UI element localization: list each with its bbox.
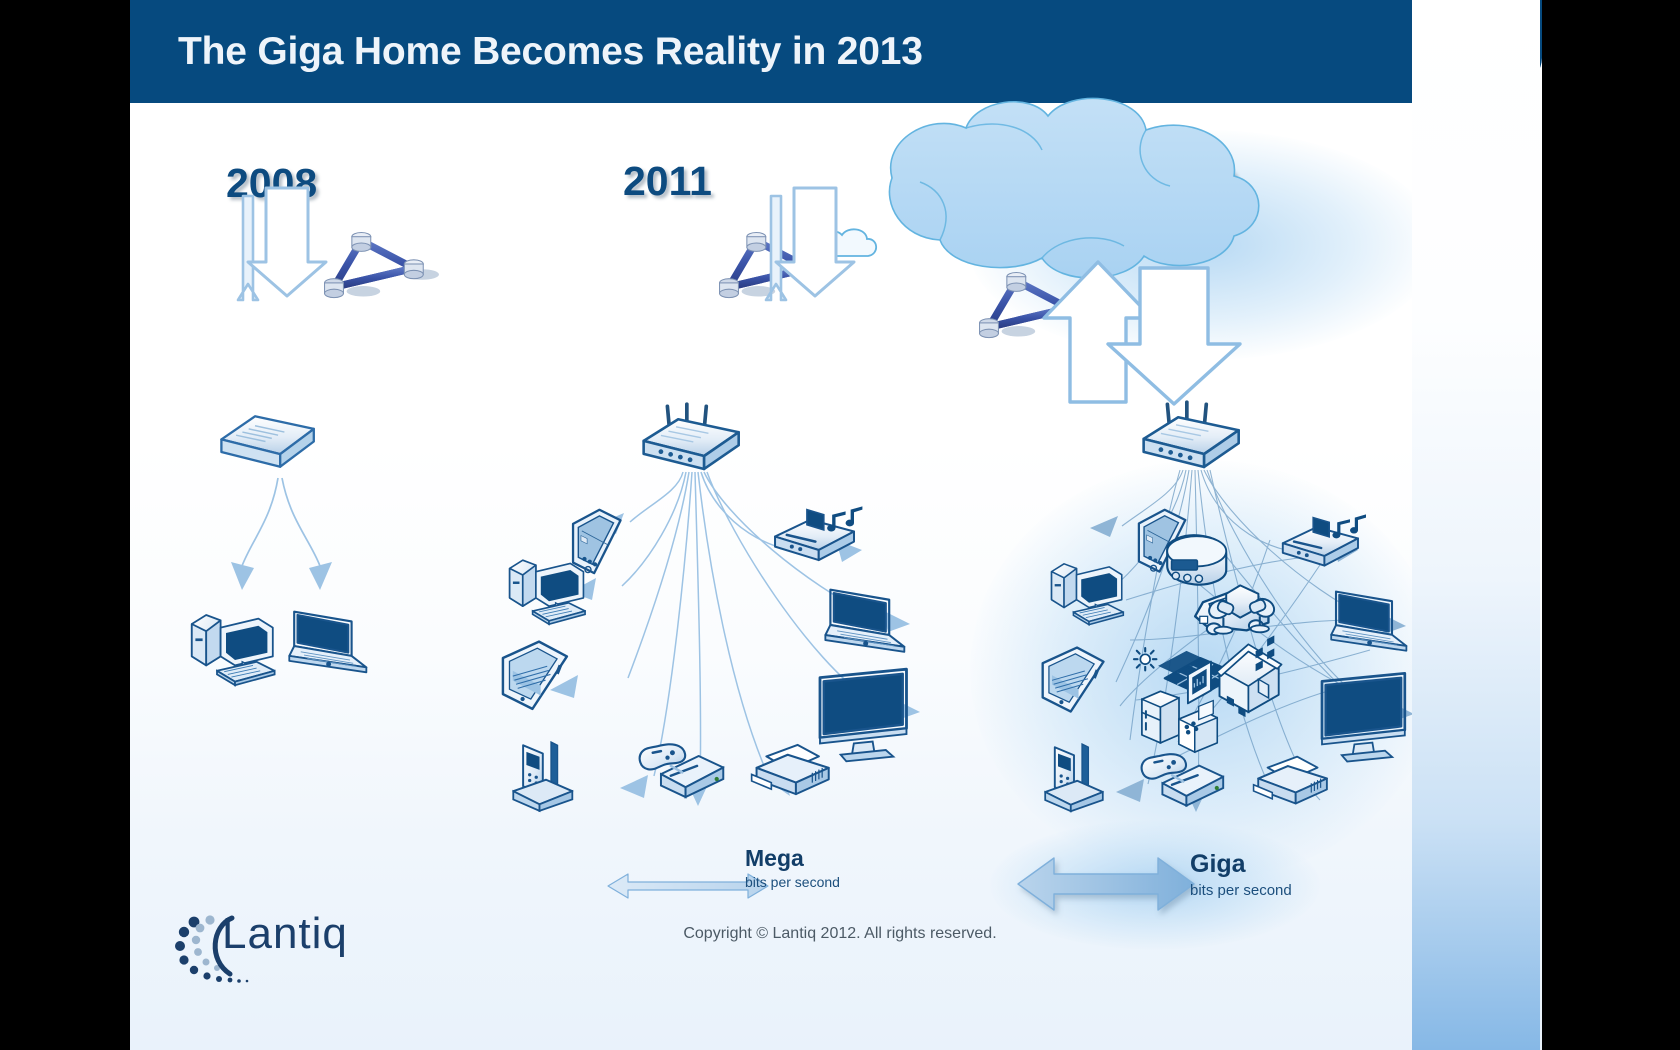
presentation-slide: The Giga Home Becomes Reality in 2013 20… bbox=[130, 0, 1542, 1050]
sun-icon-2013 bbox=[1134, 648, 1156, 670]
bold-up-arrow-2013 bbox=[1044, 262, 1152, 402]
metric-mega: Mega bits per second bbox=[595, 845, 1055, 915]
copyright-notice: Copyright © Lantiq 2012. All rights rese… bbox=[530, 925, 1150, 943]
lantiq-logo: Lantiq bbox=[162, 895, 392, 975]
smartphone-icon-2011 bbox=[573, 510, 621, 573]
television-icon-2011 bbox=[820, 669, 906, 761]
television-icon-2013 bbox=[1322, 673, 1405, 761]
link-arrows-2008 bbox=[242, 478, 320, 566]
metric-giga-title: Giga bbox=[1190, 850, 1246, 879]
laptop-icon-2008 bbox=[289, 612, 366, 673]
bold-down-arrow-2013 bbox=[1108, 268, 1240, 404]
logo-wordmark: Lantiq bbox=[222, 909, 348, 959]
metric-giga-subtitle: bits per second bbox=[1190, 882, 1292, 899]
wifi-router-icon-2013 bbox=[1144, 402, 1239, 467]
desktop-pc-icon-2011 bbox=[510, 560, 585, 624]
tablet-ereader-icon-2013 bbox=[1043, 648, 1104, 712]
dsl-modem-icon-2008 bbox=[221, 416, 313, 466]
wide-down-arrow-2008 bbox=[248, 188, 326, 296]
metric-mega-title: Mega bbox=[745, 845, 804, 872]
cloud-2013 bbox=[889, 98, 1258, 278]
desktop-pc-icon-2008 bbox=[192, 615, 275, 685]
printer-icon-2013 bbox=[1254, 757, 1327, 804]
column-2008 bbox=[192, 188, 439, 685]
link-arrowheads-2008 bbox=[231, 562, 332, 590]
game-console-icon-2011 bbox=[640, 744, 724, 797]
column-2013 bbox=[889, 98, 1414, 812]
metric-mega-subtitle: bits per second bbox=[745, 874, 840, 890]
cordless-phone-icon-2013 bbox=[1045, 744, 1103, 811]
column-2011 bbox=[503, 188, 920, 811]
wifi-router-icon-2011 bbox=[644, 404, 739, 469]
cordless-phone-icon-2011 bbox=[513, 742, 572, 811]
desktop-pc-icon-2013 bbox=[1052, 564, 1124, 625]
game-console-icon-2013 bbox=[1142, 754, 1224, 805]
washing-machine-icon-2013 bbox=[1167, 535, 1226, 584]
printer-icon-2011 bbox=[752, 745, 829, 794]
network-triangle-icon-2008 bbox=[325, 233, 439, 298]
thin-up-arrow-2008 bbox=[238, 196, 258, 300]
link-arrowheads-2011 bbox=[550, 513, 920, 806]
tablet-ereader-icon-2011 bbox=[503, 642, 567, 709]
refrigerator-stove-icon-2013 bbox=[1142, 691, 1217, 752]
slide-right-gradient-band bbox=[1412, 0, 1540, 1050]
screenshot-stage: The Giga Home Becomes Reality in 2013 20… bbox=[0, 0, 1680, 1050]
